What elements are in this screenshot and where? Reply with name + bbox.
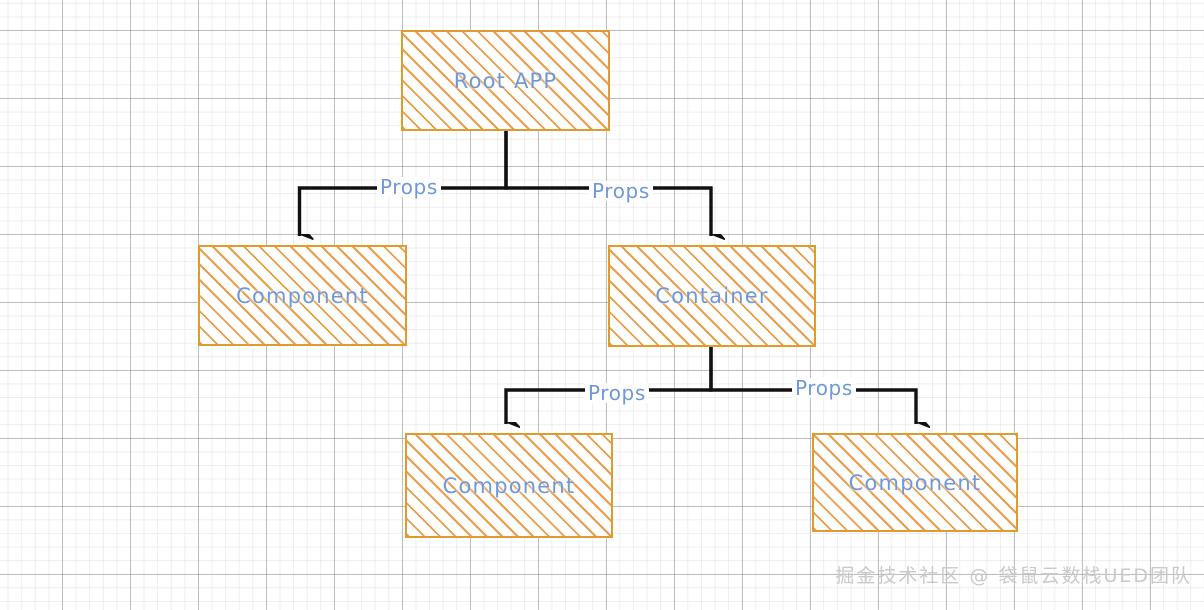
- node-component-2[interactable]: Component: [405, 433, 613, 538]
- node-root-app[interactable]: Root APP: [401, 30, 610, 131]
- node-component-1[interactable]: Component: [198, 245, 407, 346]
- node-label: Root APP: [454, 69, 558, 93]
- node-label: Component: [443, 474, 576, 498]
- edge-label-props-1: Props: [377, 177, 441, 197]
- node-label: Container: [655, 284, 768, 308]
- edge-label-props-2: Props: [589, 181, 653, 201]
- edge-label-props-4: Props: [792, 378, 856, 398]
- diagram-canvas: Root APP Component Container Component C…: [0, 0, 1204, 610]
- node-container[interactable]: Container: [608, 245, 816, 347]
- node-component-3[interactable]: Component: [812, 433, 1018, 532]
- node-label: Component: [236, 284, 369, 308]
- edge-label-props-3: Props: [585, 383, 649, 403]
- node-label: Component: [849, 471, 982, 495]
- watermark: 掘金技术社区 @ 袋鼠云数栈UED团队: [835, 561, 1192, 588]
